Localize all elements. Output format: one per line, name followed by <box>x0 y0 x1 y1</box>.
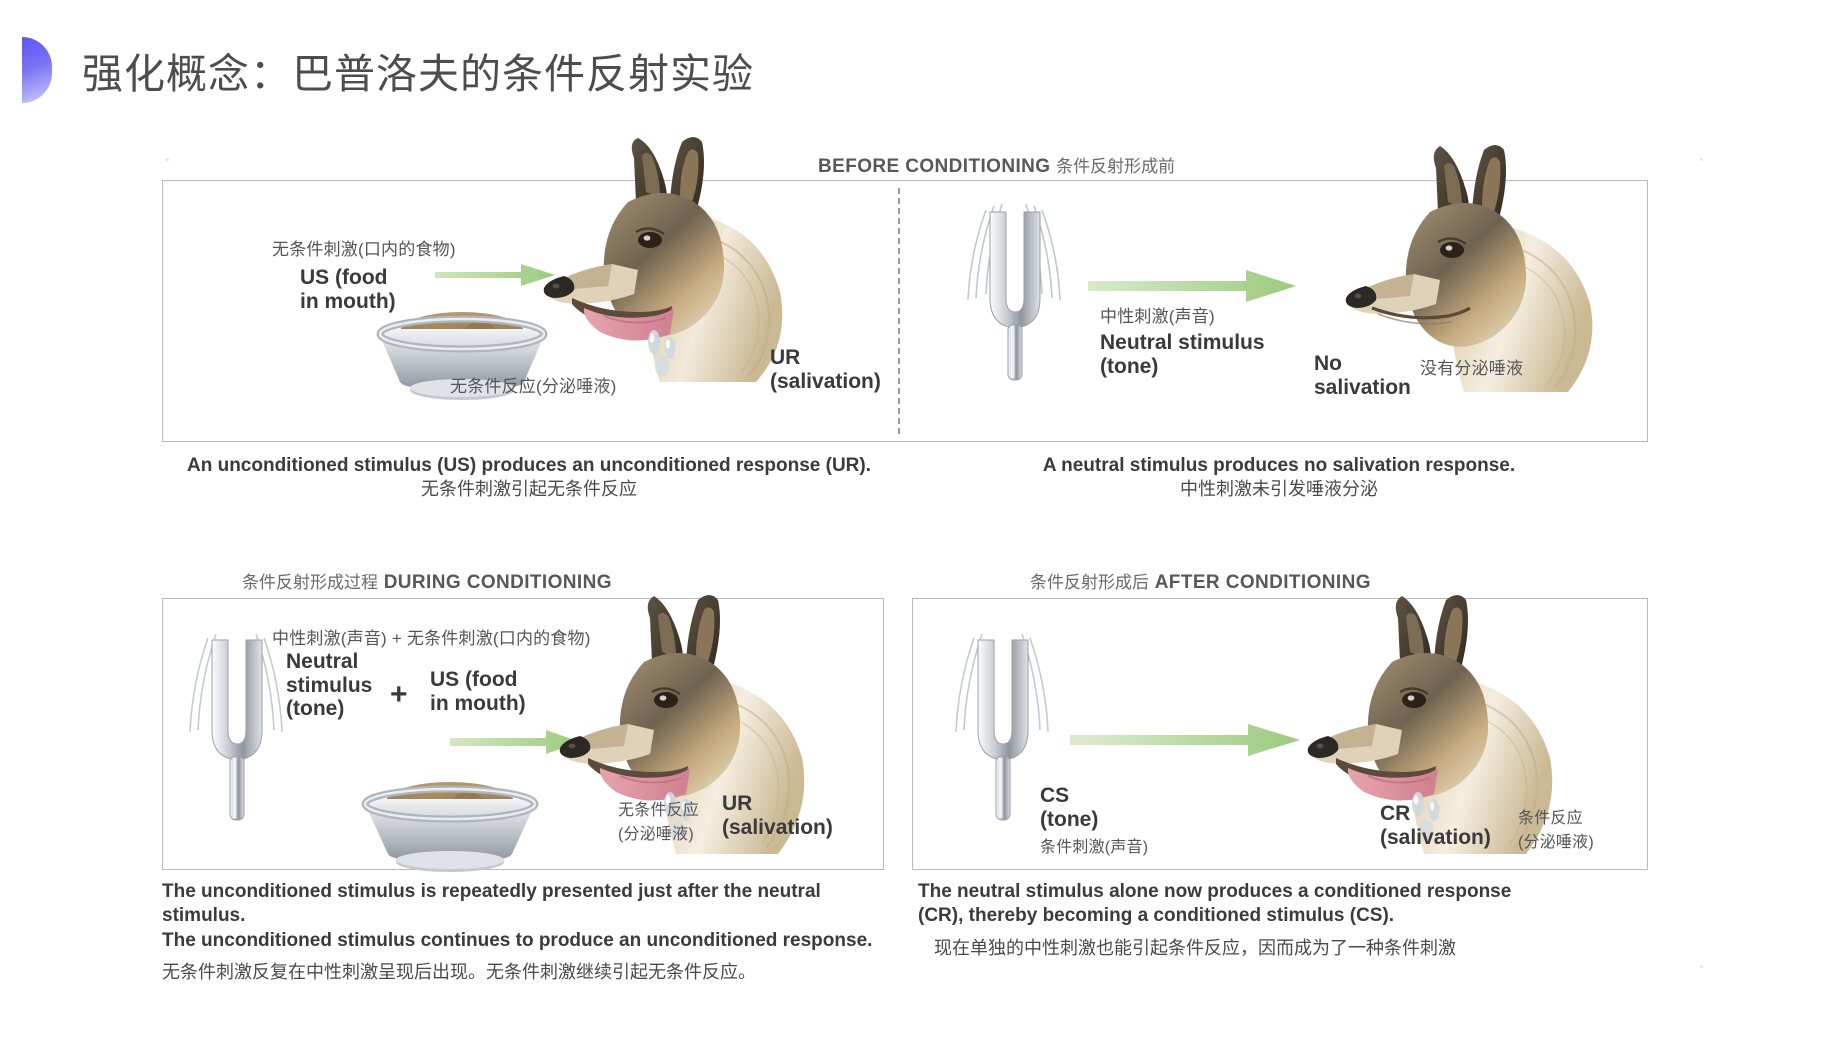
during-us-en-2: in mouth) <box>430 692 526 716</box>
after-conditioning-header: 条件反射形成后 AFTER CONDITIONING <box>1030 568 1371 594</box>
green-arrow-icon <box>435 262 555 288</box>
before-us-caption-cn: 无条件刺激引起无条件反应 <box>158 478 900 501</box>
before-neutral-stimulus-en-1: Neutral stimulus <box>1100 331 1265 355</box>
before-ur-response-cn-label: 无条件反应(分泌唾液) <box>450 372 617 397</box>
after-caption-cn: 现在单独的中性刺激也能引起条件反应，因而成为了一种条件刺激 <box>934 937 1648 960</box>
during-ur-response-en-2: (salivation) <box>722 816 833 840</box>
after-conditioning-header-en: AFTER CONDITIONING <box>1155 572 1371 593</box>
during-stimulus-cn: 中性刺激(声音) + 无条件刺激(口内的食物) <box>272 624 591 649</box>
after-cs-en-2: (tone) <box>1040 808 1148 832</box>
before-neutral-stimulus-en-2: (tone) <box>1100 355 1265 379</box>
during-conditioning-header-en: DURING CONDITIONING <box>384 572 612 593</box>
green-arrow-icon <box>1070 722 1300 758</box>
page-title: 强化概念：巴普洛夫的条件反射实验 <box>0 28 754 112</box>
after-cr-response-en-label: CR (salivation) <box>1380 802 1491 849</box>
after-caption-en-2: (CR), thereby becoming a conditioned sti… <box>918 905 1394 926</box>
tuning-fork-icon <box>178 620 296 826</box>
before-ur-response-en-2: (salivation) <box>770 370 881 394</box>
before-us-caption-en: An unconditioned stimulus (US) produces … <box>187 455 871 476</box>
before-ur-response-en-label: UR (salivation) <box>770 346 881 393</box>
during-ur-response-en-label: UR (salivation) <box>722 792 833 839</box>
during-ur-response-cn-1: 无条件反应 <box>618 796 699 820</box>
during-neutral-en-2: stimulus <box>286 674 372 698</box>
food-bowl-icon <box>346 766 554 876</box>
after-cs-en-1: CS <box>1040 784 1148 808</box>
during-caption-en-1: The unconditioned stimulus is repeatedly… <box>162 881 821 926</box>
green-arrow-icon <box>1088 268 1296 304</box>
during-us-en-1: US (food <box>430 668 526 692</box>
before-conditioning-header: BEFORE CONDITIONING 条件反射形成前 <box>818 152 1175 178</box>
before-no-salivation-en-1: No <box>1314 352 1411 376</box>
during-caption-en-2: The unconditioned stimulus continues to … <box>162 930 872 951</box>
before-conditioning-header-cn: 条件反射形成前 <box>1056 157 1175 176</box>
title-accent-mark-icon <box>22 37 52 103</box>
tuning-fork-icon <box>956 194 1074 384</box>
after-cr-response-cn-2: (分泌唾液) <box>1518 828 1594 852</box>
pavlov-diagram: BEFORE CONDITIONING 条件反射形成前 无条件刺激(口内的食物)… <box>150 150 1710 1010</box>
before-no-salivation-label: No salivation <box>1314 352 1411 399</box>
before-us-stimulus-en-1: US (food <box>300 266 456 290</box>
before-ur-response-en-1: UR <box>770 346 881 370</box>
after-cr-response-cn-1: 条件反应 <box>1518 804 1594 828</box>
dog-head-icon <box>542 136 790 398</box>
during-conditioning-header-cn: 条件反射形成过程 <box>242 573 378 592</box>
before-no-salivation-cn: 没有分泌唾液 <box>1420 354 1523 379</box>
after-cr-response-en-2: (salivation) <box>1380 826 1491 850</box>
after-conditioning-header-cn: 条件反射形成后 <box>1030 573 1149 592</box>
after-cs-cn: 条件刺激(声音) <box>1040 833 1148 857</box>
during-caption-cn: 无条件刺激反复在中性刺激呈现后出现。无条件刺激继续引起无条件反应。 <box>162 961 892 984</box>
plus-sign: + <box>390 678 408 712</box>
before-no-salivation-cn-label: 没有分泌唾液 <box>1420 354 1523 379</box>
during-neutral-en-3: (tone) <box>286 697 372 721</box>
before-neutral-caption: A neutral stimulus produces no salivatio… <box>908 454 1650 501</box>
after-cs-label: CS (tone) 条件刺激(声音) <box>1040 784 1148 857</box>
during-conditioning-caption: The unconditioned stimulus is repeatedly… <box>162 880 892 984</box>
before-ur-response-cn: 无条件反应(分泌唾液) <box>450 372 617 397</box>
before-conditioning-header-en: BEFORE CONDITIONING <box>818 156 1050 177</box>
after-cr-response-en-1: CR <box>1380 802 1491 826</box>
before-neutral-caption-en: A neutral stimulus produces no salivatio… <box>1043 455 1515 476</box>
panel-divider <box>898 188 900 434</box>
after-conditioning-caption: The neutral stimulus alone now produces … <box>918 880 1648 960</box>
during-ur-response-en-1: UR <box>722 792 833 816</box>
before-us-caption: An unconditioned stimulus (US) produces … <box>158 454 900 501</box>
slide-root: 强化概念：巴普洛夫的条件反射实验 BEFORE CONDITIONING 条件反… <box>0 0 1846 1060</box>
page-title-text: 强化概念：巴普洛夫的条件反射实验 <box>82 40 754 100</box>
during-ur-response-cn-2: (分泌唾液) <box>618 820 699 844</box>
before-us-stimulus-cn: 无条件刺激(口内的食物) <box>272 235 456 260</box>
during-neutral-en-label: Neutral stimulus (tone) <box>286 650 372 721</box>
before-neutral-caption-cn: 中性刺激未引发唾液分泌 <box>908 478 1650 501</box>
during-conditioning-header: 条件反射形成过程 DURING CONDITIONING <box>242 568 612 594</box>
during-stimulus-cn-label: 中性刺激(声音) + 无条件刺激(口内的食物) <box>272 624 591 649</box>
before-neutral-stimulus-cn: 中性刺激(声音) <box>1100 302 1265 327</box>
after-caption-en-1: The neutral stimulus alone now produces … <box>918 881 1511 902</box>
during-neutral-en-1: Neutral <box>286 650 372 674</box>
before-no-salivation-en-2: salivation <box>1314 376 1411 400</box>
after-cr-response-cn-label: 条件反应 (分泌唾液) <box>1518 804 1594 852</box>
before-neutral-stimulus-label: 中性刺激(声音) Neutral stimulus (tone) <box>1100 302 1265 378</box>
during-ur-response-cn-label: 无条件反应 (分泌唾液) <box>618 796 699 844</box>
during-us-en-label: US (food in mouth) <box>430 668 526 715</box>
